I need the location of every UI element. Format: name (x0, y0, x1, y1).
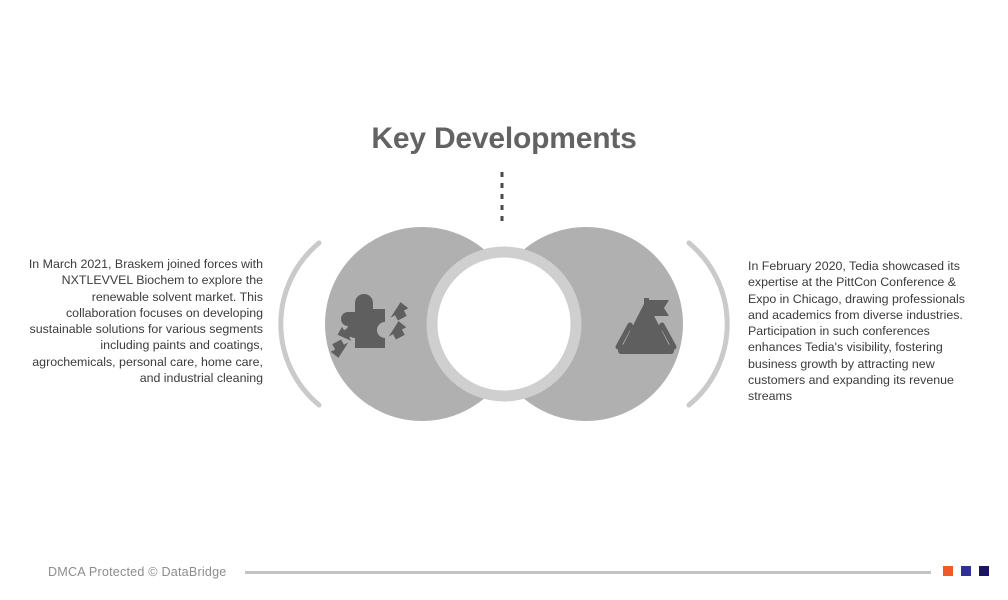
center-ring (432, 252, 576, 396)
left-node-description: In March 2021, Braskem joined forces wit… (22, 256, 263, 386)
right-node-circle (489, 227, 683, 421)
page-title: Key Developments (0, 122, 1008, 156)
right-node-description: In February 2020, Tedia showcased its ex… (748, 258, 982, 405)
footer-brand-squares (943, 566, 989, 576)
mountain-flag-icon (618, 298, 674, 354)
footer-square-navy (979, 566, 989, 576)
puzzle-handshake-icon (328, 294, 411, 360)
left-node-circle (325, 227, 519, 421)
footer-divider (245, 571, 931, 574)
footer-credit: DMCA Protected © DataBridge (48, 565, 226, 579)
left-outer-arc (281, 243, 319, 405)
right-outer-arc (689, 243, 727, 405)
footer-square-blue (961, 566, 971, 576)
footer-square-orange (943, 566, 953, 576)
